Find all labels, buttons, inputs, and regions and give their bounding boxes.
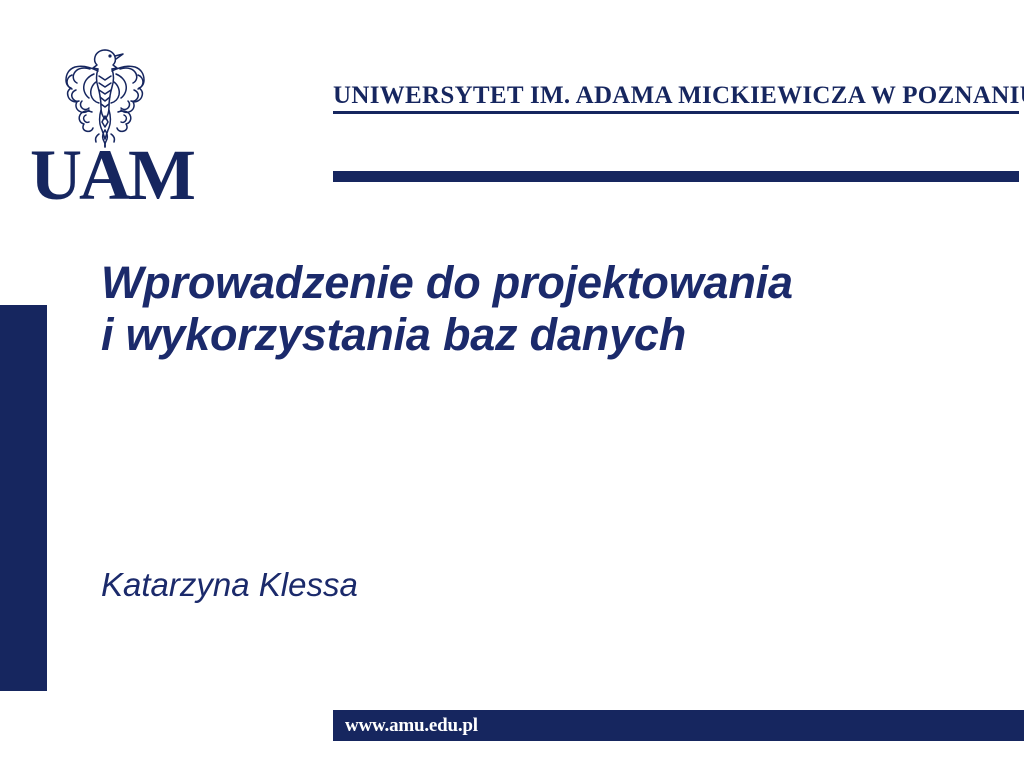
slide-author: Katarzyna Klessa: [101, 565, 701, 605]
uam-eagle-logo-icon: [42, 44, 168, 148]
slide-title-line-2: i wykorzystania baz danych: [101, 309, 931, 361]
slide-title-line-1: Wprowadzenie do projektowania: [101, 257, 931, 309]
uam-wordmark: UAM: [30, 140, 180, 210]
left-accent-bar: [0, 305, 47, 691]
presentation-slide: UAM UNIWERSYTET IM. ADAMA MICKIEWICZA W …: [0, 0, 1024, 768]
footer-url: www.amu.edu.pl: [345, 714, 478, 737]
university-name: UNIWERSYTET IM. ADAMA MICKIEWICZA W POZN…: [333, 82, 1019, 110]
footer-bar: www.amu.edu.pl: [333, 710, 1024, 741]
uam-logo: UAM: [30, 44, 180, 209]
header-rule-thin: [333, 111, 1019, 114]
header-rule-thick: [333, 171, 1019, 182]
slide-title: Wprowadzenie do projektowania i wykorzys…: [101, 257, 931, 361]
